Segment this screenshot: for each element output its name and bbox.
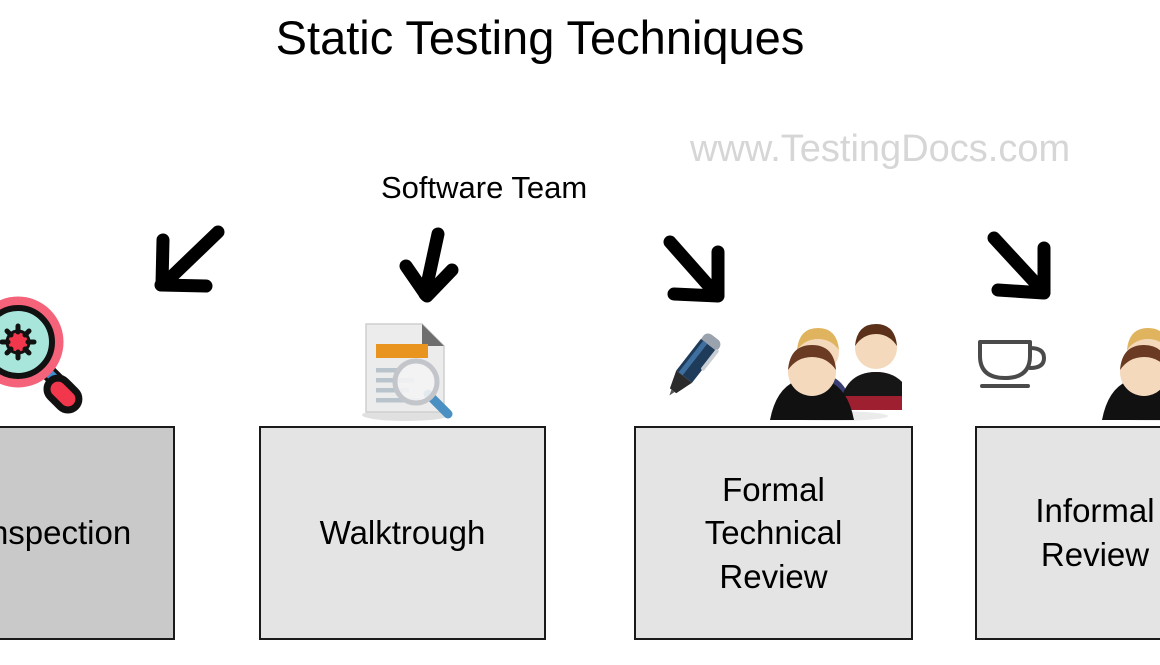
arrow-to-inspection-icon [148,222,233,302]
arrow-to-formal-technical-review-icon [658,232,738,310]
technique-box-informal-review[interactable]: Informal Review [975,426,1160,640]
people-three-icon [762,310,902,422]
pen-icon [658,322,730,406]
slide-canvas: Static Testing Techniques www.TestingDoc… [0,0,1160,665]
magnifier-bug-icon [0,296,97,421]
people-right-icon [1100,310,1160,422]
arrow-to-informal-review-icon [982,228,1064,308]
watermark-text: www.TestingDocs.com [690,128,1070,171]
technique-box-walktrough[interactable]: Walktrough [259,426,546,640]
page-title: Static Testing Techniques [0,10,1080,65]
arrow-to-walktrough-icon [398,226,468,306]
coffee-cup-icon [972,336,1052,398]
technique-box-inspection[interactable]: Inspection [0,426,175,640]
caption-software-team: Software Team [381,170,587,206]
technique-box-formal-technical-review[interactable]: Formal Technical Review [634,426,913,640]
document-review-icon [352,318,460,422]
